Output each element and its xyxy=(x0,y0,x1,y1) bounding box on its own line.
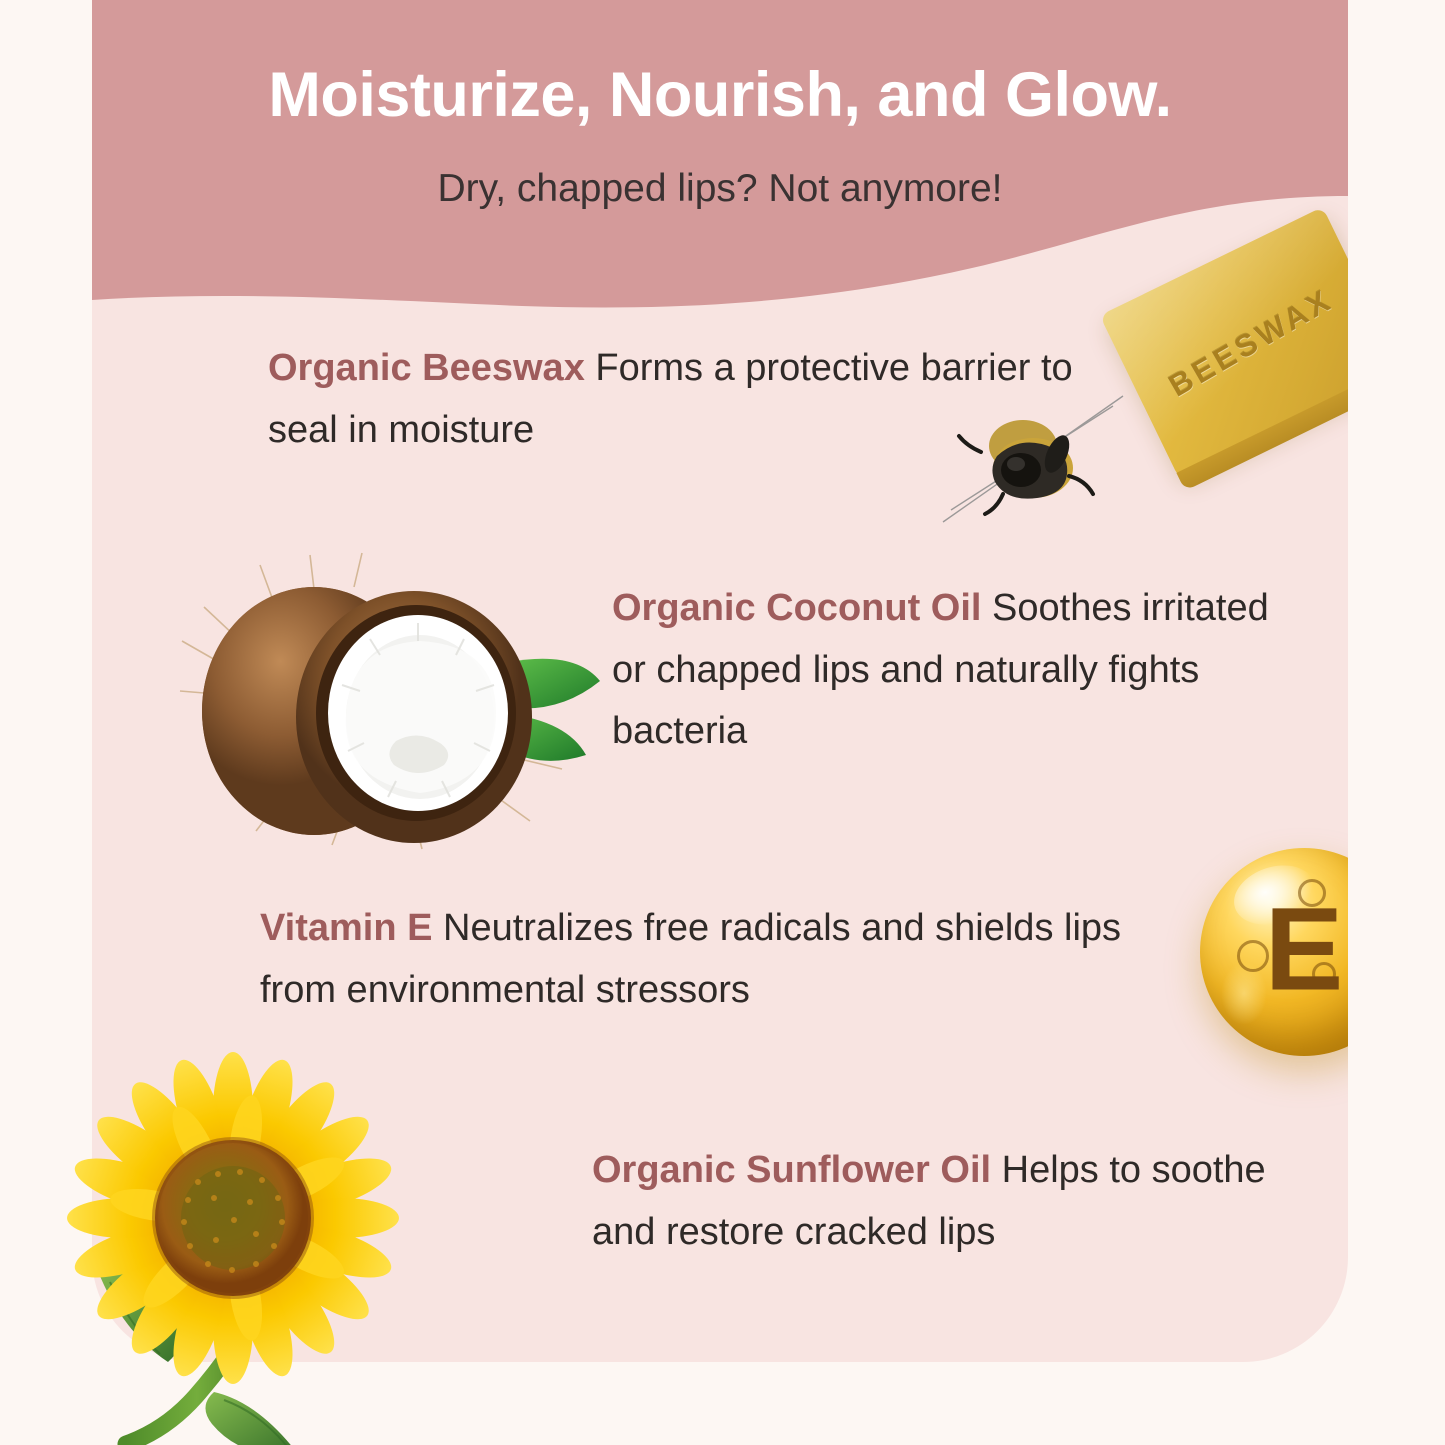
ingredient-coconut-text: Organic Coconut Oil Soothes irritated or… xyxy=(612,578,1312,763)
ingredient-vitamin-name: Vitamin E xyxy=(260,907,432,949)
header-wave-background xyxy=(92,0,1348,320)
ingredient-sunflower-text: Organic Sunflower Oil Helps to soothe an… xyxy=(592,1140,1332,1263)
capsule-letter: E xyxy=(1265,891,1344,1009)
page-title: Moisturize, Nourish, and Glow. xyxy=(92,62,1348,128)
infographic-canvas: Moisturize, Nourish, and Glow. Dry, chap… xyxy=(0,0,1445,1445)
ingredient-beeswax-name: Organic Beeswax xyxy=(268,347,585,389)
ingredient-beeswax-text: Organic Beeswax Forms a protective barri… xyxy=(268,338,1138,461)
ingredient-sunflower-name: Organic Sunflower Oil xyxy=(592,1149,991,1191)
capsule-secondary-highlight xyxy=(1221,962,1267,1024)
ingredient-vitamin-text: Vitamin E Neutralizes free radicals and … xyxy=(260,898,1170,1021)
sunflower-image xyxy=(18,1032,448,1445)
vitamin-e-capsule-image: E xyxy=(1200,848,1348,1056)
ingredient-coconut-name: Organic Coconut Oil xyxy=(612,587,981,629)
coconut-image xyxy=(164,545,604,855)
page-subtitle: Dry, chapped lips? Not anymore! xyxy=(92,168,1348,211)
